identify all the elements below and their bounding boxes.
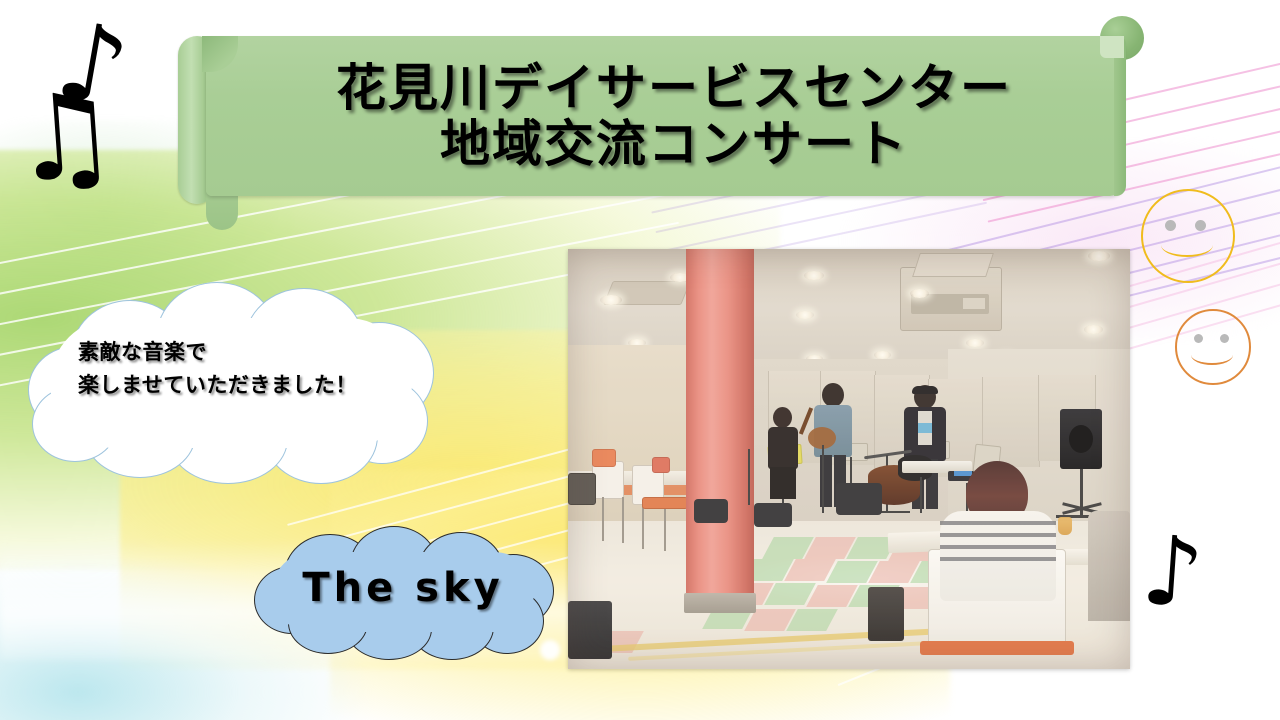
music-note-eighth-right-icon: ♪	[1139, 522, 1207, 622]
slide-canvas: 花見川デイサービスセンター 地域交流コンサート ♪ ♫ ♪ 素敵な音楽で 楽しま…	[0, 0, 1280, 720]
smiley-eye-left	[1165, 220, 1176, 231]
smiley-eye-right	[1195, 220, 1206, 231]
page-title: 花見川デイサービスセンター 地域交流コンサート	[234, 40, 1114, 192]
smiley-mouth	[1191, 345, 1233, 365]
music-note-beamed-icon: ♫	[8, 74, 122, 199]
smiley-eye-right	[1220, 334, 1229, 343]
title-banner: 花見川デイサービスセンター 地域交流コンサート	[178, 14, 1140, 206]
concert-photo	[568, 249, 1130, 669]
banner-right-edge	[1114, 36, 1126, 196]
smiley-eye-left	[1194, 334, 1203, 343]
title-line-2: 地域交流コンサート	[440, 117, 908, 171]
blue-cloud-text: The sky	[254, 565, 552, 611]
banner-left-tail	[206, 190, 238, 230]
title-line-1: 花見川デイサービスセンター	[336, 61, 1012, 115]
smiley-face-yellow-icon	[1141, 189, 1235, 283]
white-cloud-text: 素敵な音楽で 楽しませていただきました！	[78, 336, 438, 401]
smiley-face-orange-icon	[1175, 309, 1251, 385]
smiley-mouth	[1161, 233, 1213, 257]
